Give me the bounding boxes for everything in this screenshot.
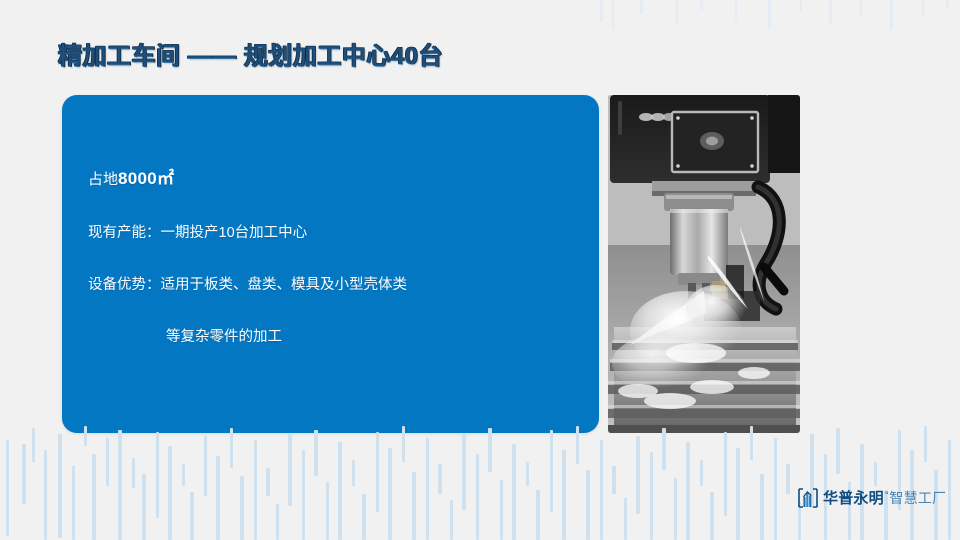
card-line-advantage: 设备优势：适用于板类、盘类、模具及小型壳体类 (88, 275, 581, 296)
brand-logo: 华普永明 ° 智慧工厂 (798, 487, 946, 508)
card-line-area-value: 8000 (118, 169, 157, 188)
brand-logo-text: 华普永明 ° 智慧工厂 (823, 487, 946, 508)
brand-name: 华普永明 (823, 487, 884, 508)
card-line-advantage-cont: 等复杂零件的加工 (88, 327, 581, 348)
card-line-area: 占地8000㎡ (88, 167, 581, 192)
content-card-body: 占地8000㎡ 现有产能：一期投产10台加工中心 设备优势：适用于板类、盘类、模… (88, 167, 581, 348)
barcode-bars-decoration (0, 420, 960, 540)
slide-canvas: 精加工车间 —— 规划加工中心40台 占地8000㎡ 现有产能：一期投产10台加… (0, 0, 960, 540)
card-line-area-unit: ㎡ (157, 169, 174, 188)
barcode-bars-top-decoration (0, 0, 960, 40)
brand-degree-mark: ° (885, 490, 889, 500)
card-line-capacity: 现有产能：一期投产10台加工中心 (88, 223, 581, 244)
content-card: 占地8000㎡ 现有产能：一期投产10台加工中心 设备优势：适用于板类、盘类、模… (62, 95, 599, 433)
card-line-area-prefix: 占地 (88, 171, 118, 188)
building-bracket-logo-icon (798, 488, 818, 508)
brand-tagline: 智慧工厂 (889, 488, 946, 508)
cnc-machining-center-photo (608, 95, 800, 433)
slide-title: 精加工车间 —— 规划加工中心40台 (58, 36, 443, 71)
